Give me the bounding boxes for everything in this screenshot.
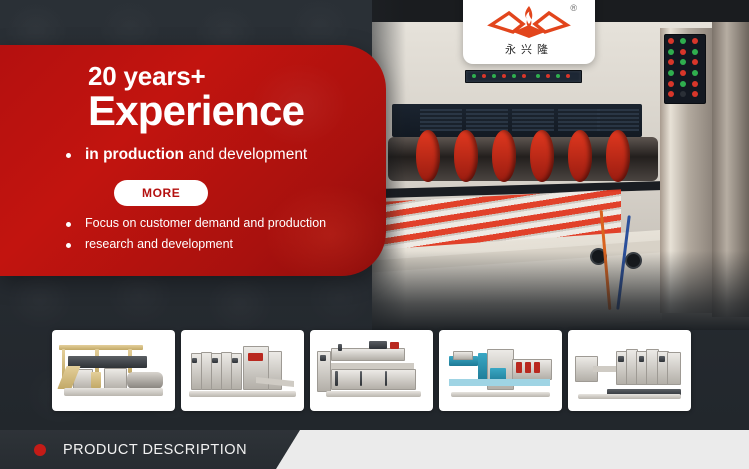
banner-headline-large: Experience	[88, 90, 386, 133]
thumbnail-2[interactable]	[310, 330, 433, 411]
registered-trademark-icon: ®	[570, 3, 577, 13]
page-root: 20 years+ Experience in production and d…	[0, 0, 749, 469]
thumbnail-1[interactable]	[181, 330, 304, 411]
banner-main-bullet-rest: and development	[184, 146, 307, 163]
thumbnail-0[interactable]	[52, 330, 175, 411]
banner-bullet-1-text: Focus on customer demand and production	[85, 216, 326, 231]
logo-emblem-icon: ®	[483, 5, 575, 39]
banner-bullet-2: research and development	[66, 237, 386, 252]
bullet-dot-icon	[34, 444, 46, 456]
banner-main-bullet: in production and development	[66, 145, 386, 164]
banner-bullet-2-text: research and development	[85, 237, 233, 252]
logo-svg	[483, 5, 575, 39]
product-thumbnail-strip	[52, 330, 697, 411]
banner-main-bullet-bold: in production	[85, 146, 184, 163]
product-description-title: PRODUCT DESCRIPTION	[63, 442, 247, 458]
banner-bullet-1: Focus on customer demand and production	[66, 216, 386, 231]
bullet-dot-icon	[66, 243, 71, 248]
logo-brand-chinese: 永兴隆	[505, 41, 553, 57]
company-logo-card[interactable]: ® 永兴隆	[463, 0, 595, 64]
product-description-bar: PRODUCT DESCRIPTION	[0, 430, 749, 469]
bullet-dot-icon	[66, 222, 71, 227]
banner-headline-small: 20 years+	[88, 63, 386, 89]
hero-banner: 20 years+ Experience in production and d…	[0, 45, 386, 276]
product-description-label-group: PRODUCT DESCRIPTION	[34, 430, 247, 469]
bullet-dot-icon	[66, 153, 71, 158]
thumbnail-4[interactable]	[568, 330, 691, 411]
thumbnail-3[interactable]	[439, 330, 562, 411]
more-button[interactable]: MORE	[114, 180, 208, 206]
more-button-wrapper: MORE	[114, 180, 386, 206]
